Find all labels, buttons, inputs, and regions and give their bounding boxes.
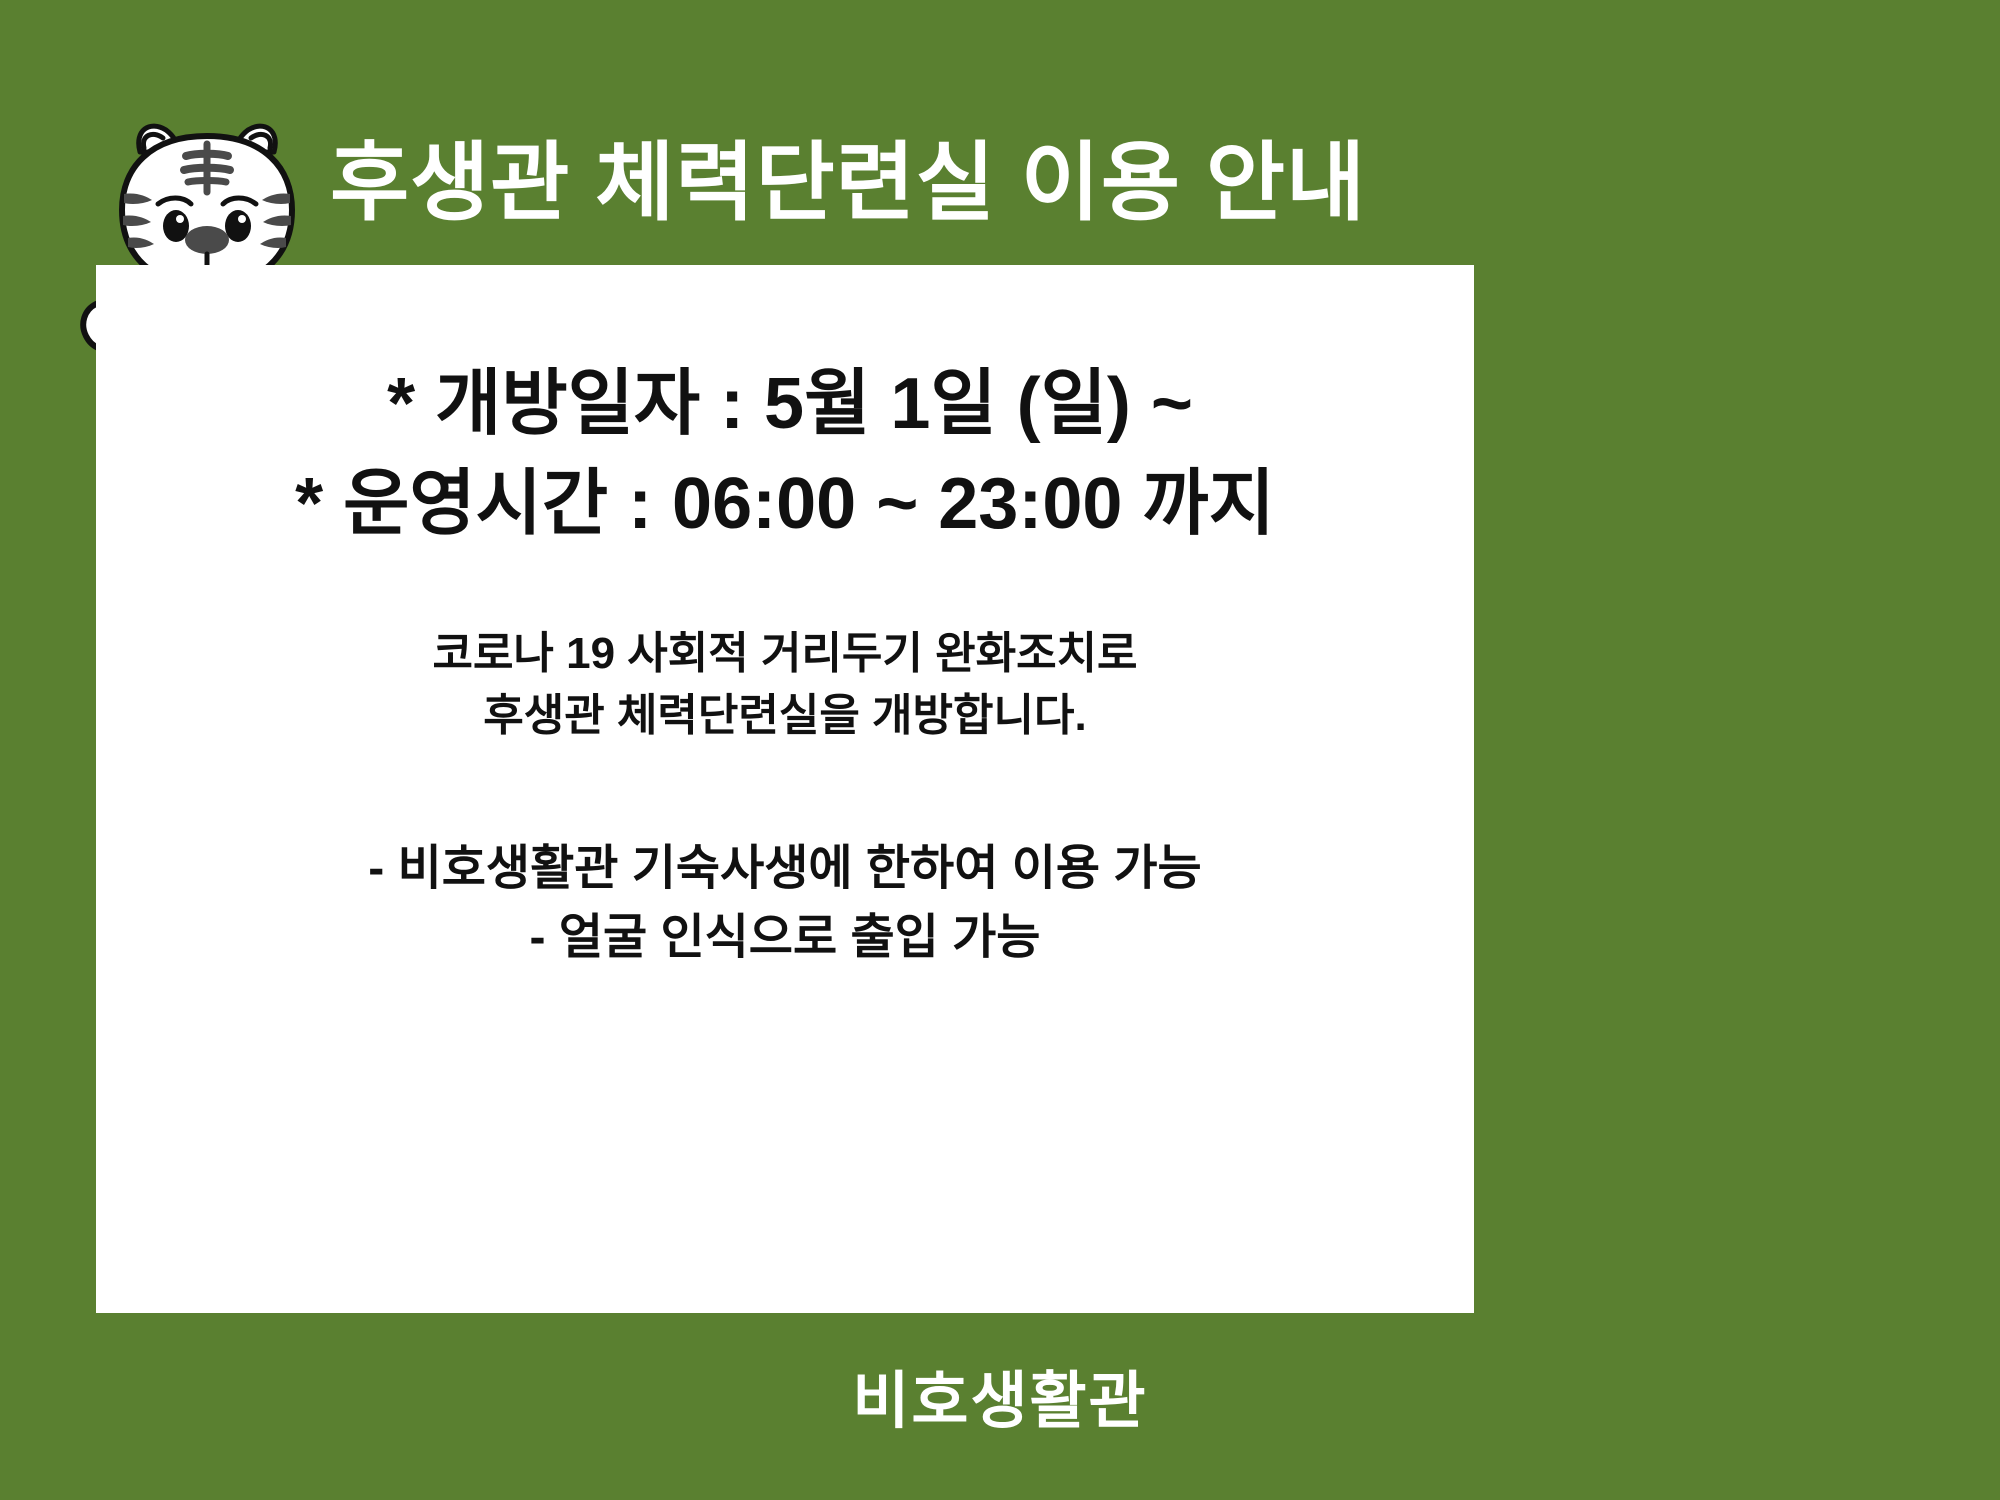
poster-root: 후생관 체력단련실 이용 안내 (0, 0, 2000, 1500)
notice-body-line-2: 후생관 체력단련실을 개방합니다. (432, 685, 1137, 747)
notice-bullets: - 비호생활관 기숙사생에 한하여 이용 가능 - 얼굴 인식으로 출입 가능 (368, 834, 1201, 973)
notice-body: 코로나 19 사회적 거리두기 완화조치로 후생관 체력단련실을 개방합니다. (432, 623, 1137, 748)
info-card: * 개방일자 : 5월 1일 (일) ~ * 운영시간 : 06:00 ~ 23… (96, 265, 1474, 1313)
page-title: 후생관 체력단련실 이용 안내 (330, 140, 1690, 226)
operating-hours-line: * 운영시간 : 06:00 ~ 23:00 까지 (295, 461, 1275, 549)
notice-body-line-1: 코로나 19 사회적 거리두기 완화조치로 (432, 623, 1137, 685)
info-card-content: * 개방일자 : 5월 1일 (일) ~ * 운영시간 : 06:00 ~ 23… (96, 265, 1474, 1313)
bullet-item-eligibility: - 비호생활관 기숙사생에 한하여 이용 가능 (368, 834, 1201, 904)
open-date-line: * 개방일자 : 5월 1일 (일) ~ (387, 361, 1193, 449)
bullet-item-face-recognition: - 얼굴 인식으로 출입 가능 (368, 903, 1201, 973)
footer-organization: 비호생활관 (0, 1350, 2000, 1440)
